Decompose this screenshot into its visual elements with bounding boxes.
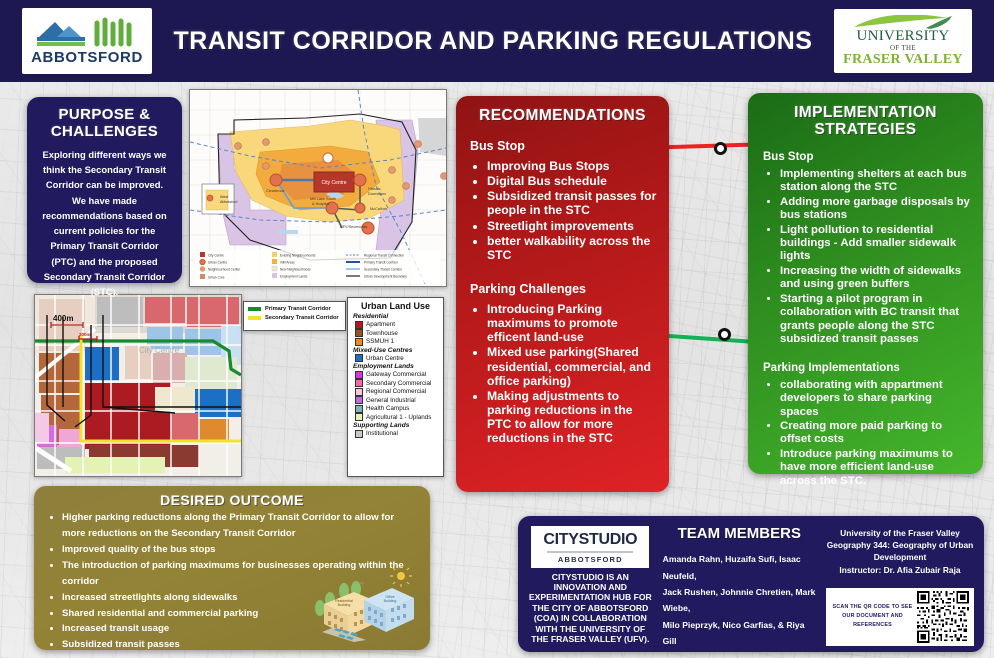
land-use-legend-row: Townhouse bbox=[355, 329, 439, 337]
svg-text:Existing Neighbourhoods: Existing Neighbourhoods bbox=[280, 253, 316, 257]
recommendation-list-item: Digital Bus schedule bbox=[487, 174, 657, 188]
land-use-legend-row: Agricultural 1 - Uplands bbox=[355, 413, 439, 421]
land-use-color-swatch bbox=[355, 388, 363, 396]
urban-land-use-map[interactable]: 400m 200m City Centre bbox=[34, 294, 242, 477]
top-map-graphic: City Centre West Abbotsford bbox=[190, 90, 446, 286]
land-use-group-heading: Employment Lands bbox=[353, 363, 439, 370]
recommendation-list-item: Introducing Parking maximums to promote … bbox=[487, 302, 657, 344]
ufv-logo: UNIVERSITY OF THE FRASER VALLEY bbox=[840, 13, 966, 69]
primary-corridor-label: Primary Transit Corridor bbox=[265, 306, 331, 312]
implementation-list: Implementing shelters at each bus statio… bbox=[780, 168, 970, 347]
team-member-line: Amanda Rahn, Huzaifa Sufi, Isaac Neufeld… bbox=[663, 551, 816, 584]
purpose-body: Exploring different ways we think the Se… bbox=[40, 147, 169, 299]
legend-row-secondary-corridor: Secondary Transit Corridor bbox=[248, 315, 341, 321]
recommendation-list-item: Subsidized transit passes for people in … bbox=[487, 189, 657, 217]
buildings-illustration: Residential Building Office Building bbox=[296, 564, 416, 642]
implementation-section-gap bbox=[761, 348, 970, 362]
svg-text:Mill Lake South: Mill Lake South bbox=[310, 197, 336, 201]
svg-text:Secondary Transit Corridor: Secondary Transit Corridor bbox=[364, 267, 403, 271]
svg-text:Urban Development Boundary: Urban Development Boundary bbox=[364, 274, 407, 278]
svg-text:400m: 400m bbox=[53, 314, 73, 323]
svg-text:Employment Lands: Employment Lands bbox=[280, 274, 308, 278]
svg-text:City Centre: City Centre bbox=[321, 180, 346, 186]
implementation-list-item: Adding more garbage disposals by bus sta… bbox=[780, 196, 970, 223]
land-use-legend-label: SSMUH 1 bbox=[366, 338, 394, 345]
svg-text:McCallum: McCallum bbox=[370, 207, 387, 211]
land-use-color-swatch bbox=[355, 371, 363, 379]
land-use-legend-label: Agricultural 1 - Uplands bbox=[366, 414, 431, 421]
implementation-section-heading: Parking Implementations bbox=[763, 362, 970, 374]
ufv-line-1: UNIVERSITY bbox=[857, 29, 950, 44]
qr-instruction-text: SCAN THE QR CODE TO SEE OUR DOCUMENT AND… bbox=[828, 603, 917, 631]
land-use-group-heading: Residential bbox=[353, 313, 439, 320]
team-panel: CITYSTUDIO ABBOTSFORD CITYSTUDIO IS AN I… bbox=[518, 516, 984, 652]
abbotsford-logo: ABBOTSFORD bbox=[28, 12, 146, 70]
citystudio-description: CITYSTUDIO IS AN INNOVATION AND EXPERIME… bbox=[528, 572, 653, 645]
recommendations-panel: RECOMMENDATIONS Bus StopImproving Bus St… bbox=[456, 96, 669, 492]
svg-text:Urban Centre: Urban Centre bbox=[208, 260, 227, 264]
land-use-color-swatch bbox=[355, 405, 363, 413]
course-info-lines: University of the Fraser ValleyGeography… bbox=[826, 527, 974, 576]
citystudio-sub: ABBOTSFORD bbox=[533, 555, 647, 564]
secondary-corridor-swatch bbox=[248, 316, 261, 320]
land-use-legend-body: ResidentialApartmentTownhouseSSMUH 1Mixe… bbox=[352, 313, 439, 438]
land-use-legend-label: Health Campus bbox=[366, 405, 409, 412]
course-info-column: University of the Fraser ValleyGeography… bbox=[826, 524, 974, 644]
land-use-legend-row: Institutional bbox=[355, 430, 439, 438]
land-use-group-heading: Mixed-Use Centres bbox=[353, 347, 439, 354]
land-use-group-heading: Supporting Lands bbox=[353, 422, 439, 429]
svg-text:& Hospital: & Hospital bbox=[312, 202, 329, 206]
land-use-color-swatch bbox=[355, 329, 363, 337]
svg-text:Building: Building bbox=[384, 599, 397, 603]
team-members-names: Amanda Rahn, Huzaifa Sufi, Isaac Neufeld… bbox=[663, 551, 816, 649]
implementation-list-item: Introduce parking maximums to have more … bbox=[780, 448, 970, 488]
recommendation-section-heading: Parking Challenges bbox=[470, 282, 657, 296]
purpose-title: PURPOSE & CHALLENGES bbox=[40, 107, 169, 140]
secondary-corridor-label: Secondary Transit Corridor bbox=[265, 315, 339, 321]
land-use-legend-title: Urban Land Use bbox=[352, 301, 439, 311]
team-members-column: TEAM MEMBERS Amanda Rahn, Huzaifa Sufi, … bbox=[663, 524, 816, 644]
svg-text:West: West bbox=[220, 195, 228, 199]
svg-text:City Centre: City Centre bbox=[208, 253, 224, 257]
land-use-legend-label: Secondary Commercial bbox=[366, 380, 431, 387]
qr-code-icon[interactable] bbox=[917, 591, 969, 643]
land-use-legend-row: SSMUH 1 bbox=[355, 338, 439, 346]
land-use-color-swatch bbox=[355, 430, 363, 438]
svg-text:New Neighbourhoods: New Neighbourhoods bbox=[280, 267, 311, 271]
land-use-legend-row: General Industrial bbox=[355, 396, 439, 404]
team-member-line: Milo Pieprzyk, Nico Garfias, & Riya Gill bbox=[663, 617, 816, 650]
implementation-title: IMPLEMENTATION STRATEGIES bbox=[761, 104, 970, 139]
implementation-list: collaborating with appartment developers… bbox=[780, 379, 970, 489]
purpose-and-challenges-panel: PURPOSE & CHALLENGES Exploring different… bbox=[27, 97, 182, 283]
ufv-logo-box: UNIVERSITY OF THE FRASER VALLEY bbox=[834, 9, 972, 73]
course-info-line: Geography 344: Geography of Urban Develo… bbox=[826, 539, 974, 563]
recommendations-title: RECOMMENDATIONS bbox=[468, 107, 657, 125]
implementation-list-item: Light pollution to residential buildings… bbox=[780, 224, 970, 264]
recommendation-list-item: Making adjustments to parking reductions… bbox=[487, 389, 657, 446]
svg-text:Parking: Parking bbox=[353, 581, 364, 585]
land-use-legend-row: Urban Centre bbox=[355, 354, 439, 362]
land-use-color-swatch bbox=[355, 338, 363, 346]
abbotsford-logo-box: ABBOTSFORD bbox=[22, 8, 152, 74]
poster-canvas: ABBOTSFORD TRANSIT CORRIDOR AND PARKING … bbox=[0, 0, 994, 658]
land-use-legend-label: Gateway Commercial bbox=[366, 371, 426, 378]
bottom-map-graphic: 400m 200m City Centre bbox=[35, 295, 241, 476]
recommendation-section-heading: Bus Stop bbox=[470, 139, 657, 153]
svg-text:Downtown: Downtown bbox=[368, 192, 386, 196]
citystudio-column: CITYSTUDIO ABBOTSFORD CITYSTUDIO IS AN I… bbox=[528, 524, 653, 644]
legend-row-primary-corridor: Primary Transit Corridor bbox=[248, 306, 341, 312]
ufv-line-3: FRASER VALLEY bbox=[843, 53, 963, 67]
course-info-line: University of the Fraser Valley bbox=[826, 527, 974, 539]
implementation-body: Bus StopImplementing shelters at each bu… bbox=[761, 151, 970, 489]
land-use-color-swatch bbox=[355, 354, 363, 362]
svg-text:200m: 200m bbox=[79, 332, 91, 337]
land-use-color-swatch bbox=[355, 379, 363, 387]
svg-text:UFV/Sevenoaks: UFV/Sevenoaks bbox=[340, 225, 368, 229]
citystudio-divider bbox=[547, 551, 633, 553]
outcome-title: DESIRED OUTCOME bbox=[46, 492, 418, 508]
svg-text:Infill Areas: Infill Areas bbox=[280, 260, 295, 264]
land-use-legend-label: Apartment bbox=[366, 321, 395, 328]
svg-text:Regional Transit Connection: Regional Transit Connection bbox=[364, 253, 404, 257]
desired-outcome-panel: DESIRED OUTCOME Higher parking reduction… bbox=[34, 486, 430, 650]
ufv-leaf-icon bbox=[848, 15, 958, 29]
ufv-line-2: OF THE bbox=[890, 45, 916, 52]
svg-text:Abbotsford: Abbotsford bbox=[220, 200, 237, 204]
abbotsford-city-structure-map[interactable]: City Centre West Abbotsford bbox=[189, 89, 447, 287]
urban-land-use-legend: Urban Land Use ResidentialApartmentTownh… bbox=[347, 297, 444, 477]
recommendation-list-item: Streetlight improvements bbox=[487, 219, 657, 233]
connector-dot-green bbox=[718, 328, 731, 341]
land-use-legend-row: Regional Commercial bbox=[355, 388, 439, 396]
land-use-legend-label: Urban Centre bbox=[366, 355, 404, 362]
qr-code-block[interactable]: SCAN THE QR CODE TO SEE OUR DOCUMENT AND… bbox=[826, 588, 974, 646]
recommendation-section-gap bbox=[468, 263, 657, 282]
team-members-title: TEAM MEMBERS bbox=[663, 526, 816, 542]
recommendations-body: Bus StopImproving Bus StopsDigital Bus s… bbox=[468, 139, 657, 445]
land-use-legend-label: Regional Commercial bbox=[366, 388, 426, 395]
svg-text:Neighbourhood Center: Neighbourhood Center bbox=[208, 267, 241, 271]
land-use-legend-row: Health Campus bbox=[355, 405, 439, 413]
citystudio-wordmark: CITYSTUDIO bbox=[533, 531, 647, 549]
team-member-line: Jack Rushen, Johnnie Chretien, Mark Wieb… bbox=[663, 584, 816, 617]
implementation-list-item: Implementing shelters at each bus statio… bbox=[780, 168, 970, 195]
land-use-legend-label: General Industrial bbox=[366, 397, 416, 404]
poster-header: ABBOTSFORD TRANSIT CORRIDOR AND PARKING … bbox=[0, 0, 994, 82]
implementation-list-item: Starting a pilot program in collaboratio… bbox=[780, 293, 970, 347]
abbotsford-mountain-icon bbox=[35, 17, 139, 49]
outcome-list-item: Improved quality of the bus stops bbox=[62, 542, 418, 558]
implementation-list-item: Creating more paid parking to offset cos… bbox=[780, 420, 970, 447]
outcome-list-item: Higher parking reductions along the Prim… bbox=[62, 510, 418, 542]
svg-text:Urban Core: Urban Core bbox=[208, 275, 225, 279]
transit-corridor-legend: Primary Transit Corridor Secondary Trans… bbox=[243, 301, 346, 331]
implementation-strategies-panel: IMPLEMENTATION STRATEGIES Bus StopImplem… bbox=[748, 93, 983, 474]
svg-text:City Centre: City Centre bbox=[139, 346, 180, 355]
citystudio-logo: CITYSTUDIO ABBOTSFORD bbox=[531, 526, 649, 568]
course-info-line: Instructor: Dr. Afia Zubair Raja bbox=[826, 564, 974, 576]
svg-text:Primary Transit Corridor: Primary Transit Corridor bbox=[364, 260, 399, 264]
land-use-legend-label: Townhouse bbox=[366, 330, 398, 337]
svg-text:Historic: Historic bbox=[368, 187, 381, 191]
svg-text:Building: Building bbox=[338, 603, 351, 607]
land-use-color-swatch bbox=[355, 321, 363, 329]
land-use-legend-row: Apartment bbox=[355, 321, 439, 329]
land-use-color-swatch bbox=[355, 413, 363, 421]
abbotsford-wordmark: ABBOTSFORD bbox=[31, 49, 143, 66]
implementation-section-heading: Bus Stop bbox=[763, 151, 970, 163]
recommendation-list-item: Improving Bus Stops bbox=[487, 159, 657, 173]
page-title: TRANSIT CORRIDOR AND PARKING REGULATIONS bbox=[152, 28, 834, 55]
recommendation-list-item: Mixed use parking(Shared residential, co… bbox=[487, 345, 657, 387]
primary-corridor-swatch bbox=[248, 307, 261, 311]
recommendation-list: Introducing Parking maximums to promote … bbox=[487, 302, 657, 445]
implementation-list-item: collaborating with appartment developers… bbox=[780, 379, 970, 419]
connector-dot-red bbox=[714, 142, 727, 155]
recommendation-list: Improving Bus StopsDigital Bus scheduleS… bbox=[487, 159, 657, 262]
recommendation-list-item: better walkability across the STC bbox=[487, 234, 657, 262]
land-use-legend-row: Secondary Commercial bbox=[355, 379, 439, 387]
svg-text:Clearbrook: Clearbrook bbox=[266, 189, 285, 193]
implementation-list-item: Increasing the width of sidewalks and us… bbox=[780, 265, 970, 292]
land-use-legend-label: Institutional bbox=[366, 430, 398, 437]
land-use-legend-row: Gateway Commercial bbox=[355, 371, 439, 379]
land-use-color-swatch bbox=[355, 396, 363, 404]
